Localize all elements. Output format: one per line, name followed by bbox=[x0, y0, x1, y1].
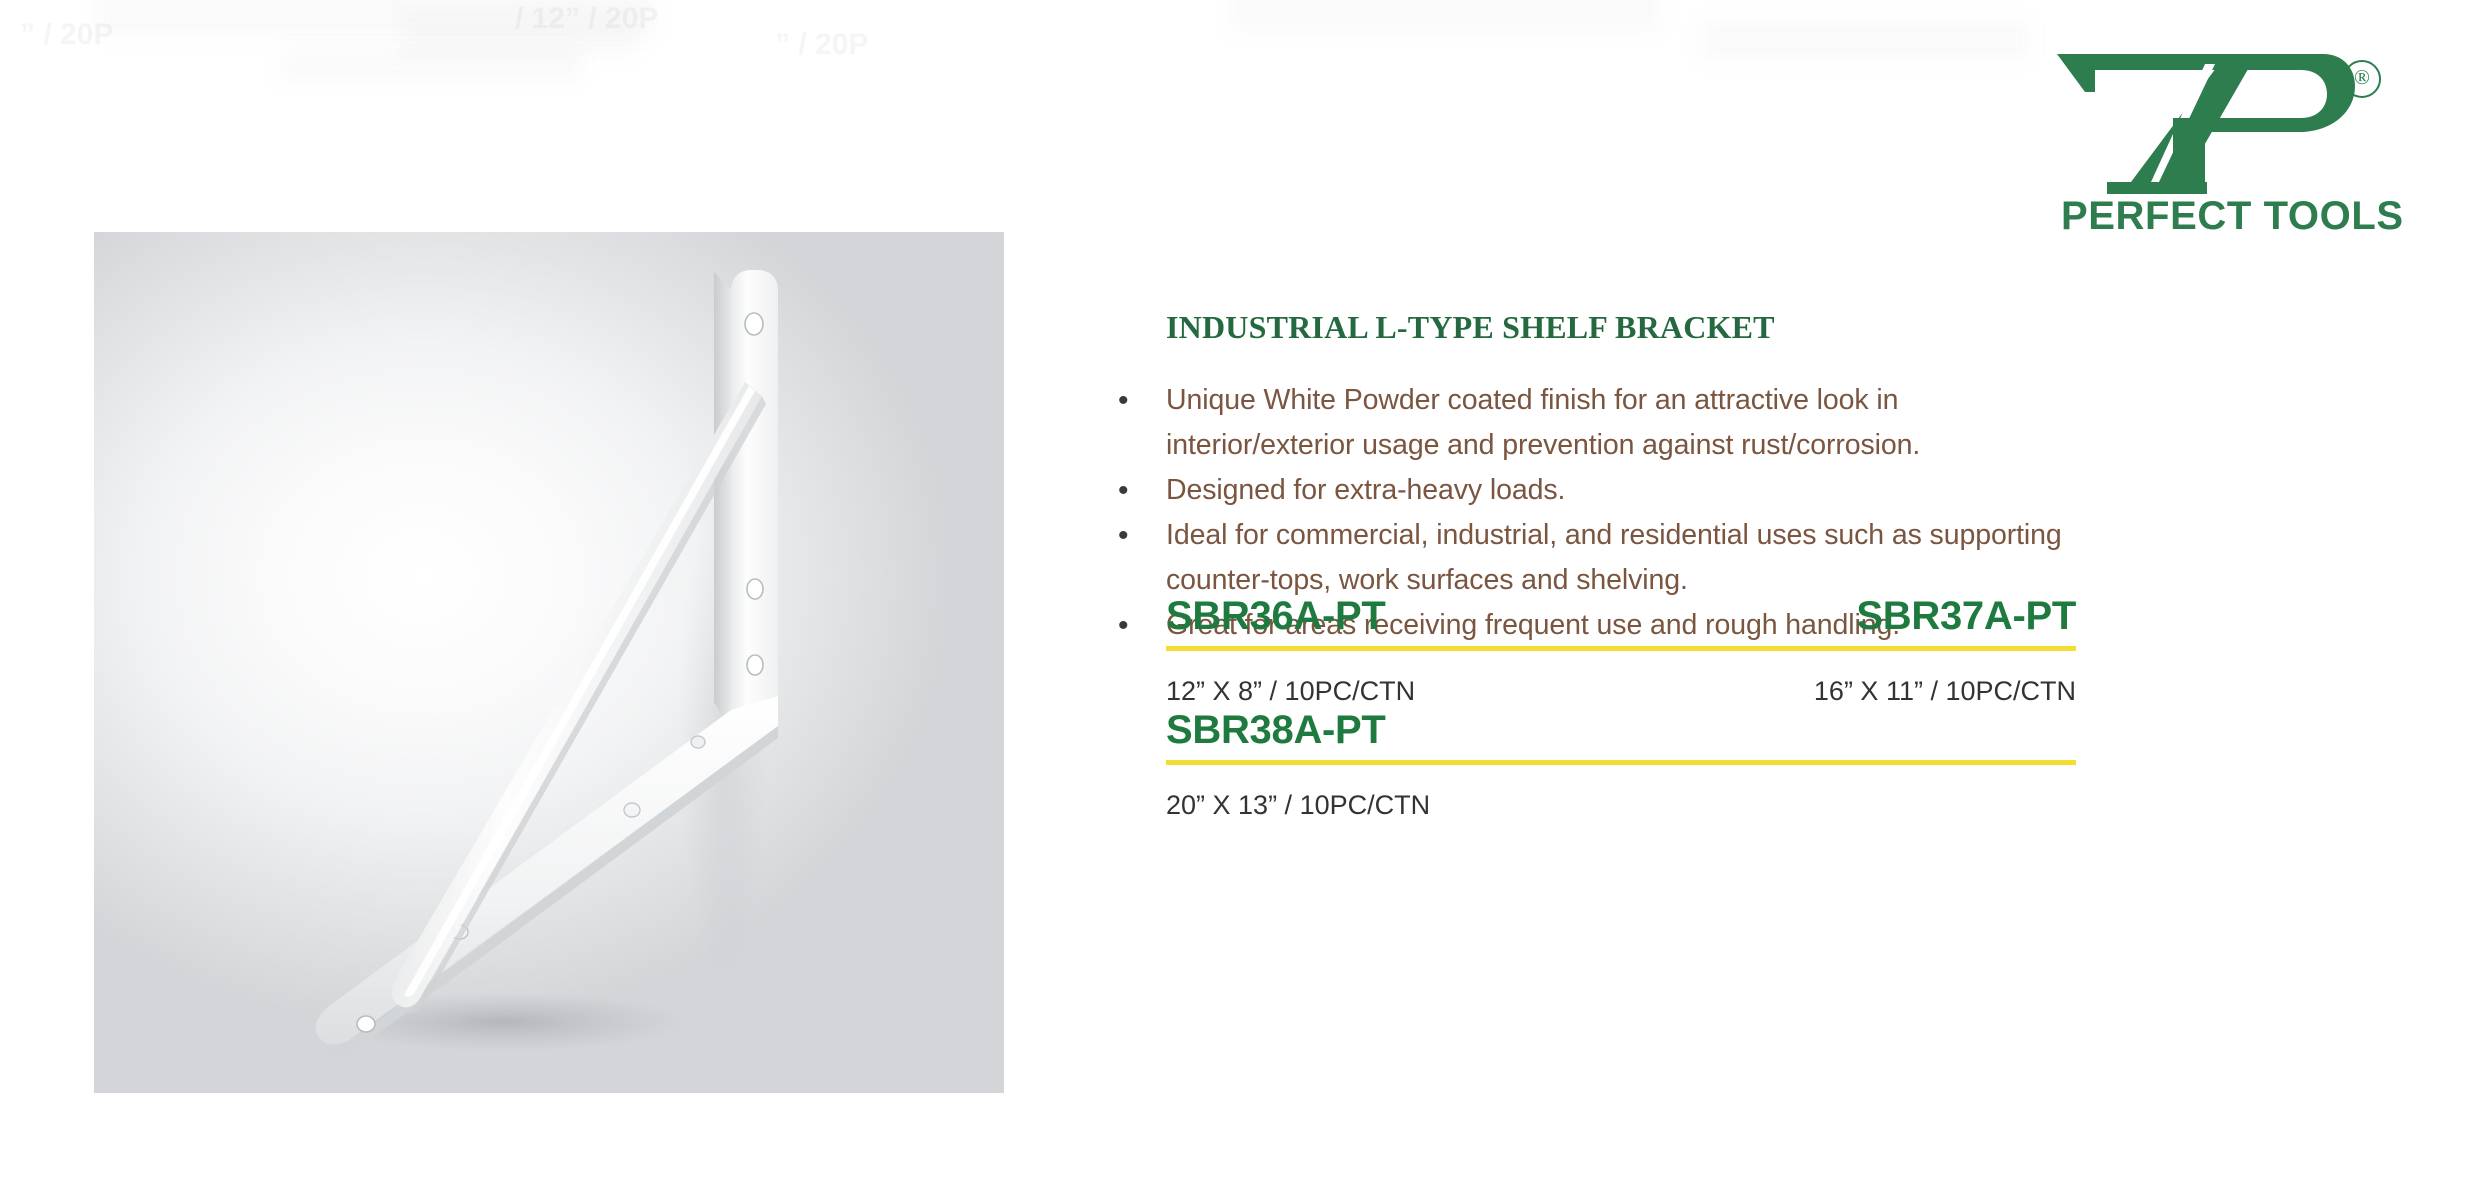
bullet-icon: • bbox=[1118, 513, 1134, 558]
sku-divider bbox=[1166, 760, 2076, 765]
list-item: • Designed for extra-heavy loads. bbox=[1104, 468, 2084, 513]
brand-wordmark: PERFECT TOOLS bbox=[2061, 194, 2404, 239]
product-info-panel: INDUSTRIAL L-TYPE SHELF BRACKET • Unique… bbox=[1166, 0, 2086, 1180]
feature-text: Designed for extra-heavy loads. bbox=[1166, 474, 1565, 506]
seven-p-monogram-logo bbox=[2055, 48, 2355, 198]
ghost-text-0: ” / 20P bbox=[20, 18, 113, 52]
brand-logo: ® PERFECT TOOLS bbox=[2055, 48, 2365, 238]
sku-code: SBR38A-PT bbox=[1166, 706, 1606, 754]
sku-code: SBR36A-PT bbox=[1166, 592, 1606, 640]
sku-dimensions: 12” X 8” / 10PC/CTN bbox=[1166, 674, 1606, 708]
sku-entry-sbr37a-pt: SBR37A-PT bbox=[1636, 592, 2076, 640]
sku-dims-wrap: 20” X 13” / 10PC/CTN bbox=[1166, 774, 1606, 822]
feature-text: Unique White Powder coated finish for an… bbox=[1166, 384, 1920, 461]
page-title: INDUSTRIAL L-TYPE SHELF BRACKET bbox=[1166, 309, 1775, 346]
registered-trademark-icon: ® bbox=[2343, 60, 2381, 98]
sku-divider bbox=[1166, 646, 2076, 651]
ghost-text-2: ” / 20P bbox=[775, 28, 868, 62]
sku-entry-sbr36a-pt: SBR36A-PT bbox=[1166, 592, 1606, 640]
bullet-icon: • bbox=[1118, 378, 1134, 423]
product-image bbox=[94, 232, 1004, 1093]
list-item: • Ideal for commercial, industrial, and … bbox=[1104, 513, 2084, 603]
ghost-text-1: / 12” / 20P bbox=[515, 2, 658, 36]
sku-dims-wrap: 16” X 11” / 10PC/CTN bbox=[1636, 660, 2076, 708]
list-item: • Unique White Powder coated finish for … bbox=[1104, 378, 2084, 468]
sku-grid: SBR36A-PT SBR37A-PT 12” X 8” / 10PC/CTN … bbox=[1166, 592, 2076, 820]
sku-row: SBR38A-PT 20” X 13” / 10PC/CTN bbox=[1166, 706, 2076, 820]
bullet-icon: • bbox=[1118, 603, 1134, 648]
sku-dimensions: 16” X 11” / 10PC/CTN bbox=[1636, 674, 2076, 708]
bullet-icon: • bbox=[1118, 468, 1134, 513]
sku-dims-wrap: 12” X 8” / 10PC/CTN bbox=[1166, 660, 1606, 708]
sku-entry-sbr38a-pt: SBR38A-PT bbox=[1166, 706, 1606, 754]
feature-text: Ideal for commercial, industrial, and re… bbox=[1166, 519, 2062, 596]
sku-code: SBR37A-PT bbox=[1636, 592, 2076, 640]
sku-row: SBR36A-PT SBR37A-PT 12” X 8” / 10PC/CTN … bbox=[1166, 592, 2076, 706]
sku-dimensions: 20” X 13” / 10PC/CTN bbox=[1166, 788, 1606, 822]
